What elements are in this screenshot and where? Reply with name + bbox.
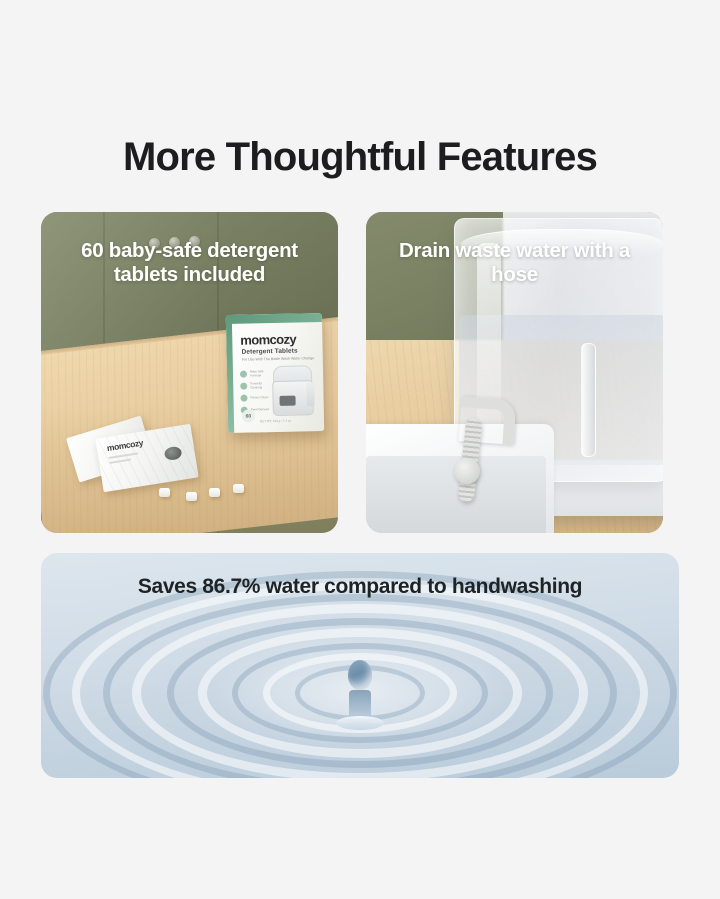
water-column-base	[336, 716, 384, 730]
water-droplet-icon	[348, 660, 372, 690]
product-box: momcozy Detergent Tablets For Use With T…	[226, 313, 324, 433]
device-spout	[306, 382, 315, 406]
detergent-tablet	[159, 488, 170, 497]
detergent-tablet	[233, 484, 244, 493]
detergent-tablet	[186, 492, 197, 501]
hose-cuff	[454, 458, 480, 484]
check-icon	[240, 371, 247, 378]
box-top-band	[226, 313, 322, 324]
feature-card-caption: 60 baby-safe detergent tablets included	[41, 239, 338, 287]
box-bullet-label: Rinses Clean	[250, 396, 268, 400]
box-brand-label: momcozy	[240, 332, 296, 348]
device-display	[279, 396, 295, 406]
box-left-band	[226, 315, 234, 433]
check-icon	[240, 395, 247, 402]
water-savings-banner[interactable]: Saves 86.7% water compared to handwashin…	[41, 553, 679, 778]
feature-page: More Thoughtful Features momcozy	[0, 0, 720, 899]
box-count-badge: 60	[242, 409, 255, 422]
page-title: More Thoughtful Features	[0, 131, 720, 183]
feature-card-drain-hose[interactable]: Drain waste water with a hose	[366, 212, 663, 533]
feature-card-detergent-tablets[interactable]: momcozy momcozy Detergent Tablets For Us	[41, 212, 338, 533]
box-tagline: For Use With The Bottle Wash Water Chang…	[242, 356, 314, 363]
check-icon	[240, 383, 247, 390]
feature-card-caption: Drain waste water with a hose	[366, 239, 663, 287]
box-footnote: NET WT. 210 g / 7.4 oz	[260, 419, 291, 424]
box-product-name: Detergent Tablets	[241, 348, 297, 356]
detergent-tablet	[209, 488, 220, 497]
box-device-illustration	[269, 365, 315, 416]
feature-cards-row: momcozy momcozy Detergent Tablets For Us	[41, 212, 679, 533]
banner-caption: Saves 86.7% water compared to handwashin…	[41, 573, 679, 601]
tank-inner-tube	[581, 343, 596, 457]
